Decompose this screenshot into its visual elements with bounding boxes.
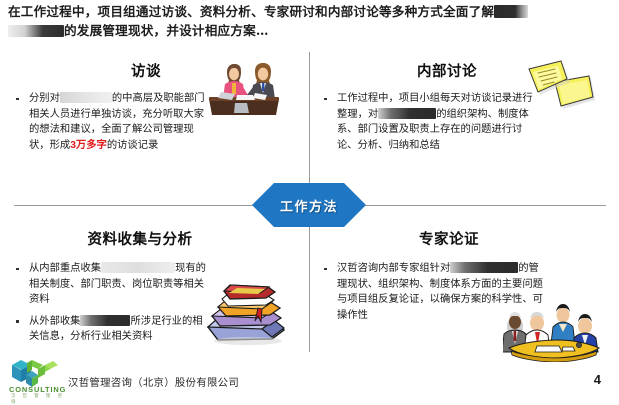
center-badge: 工作方法 <box>252 183 366 227</box>
quadrant-internal-discussion-bullets: 工作过程中，项目小组每天对访谈记录进行整理，对的组织架构、制度体系、部门设置及职… <box>320 91 542 153</box>
redacted-text-block <box>101 262 175 273</box>
quadrant-interview-bullets: 分别对的中高层及职能部门相关人员进行单独访谈，充分听取大家的想法和建议，全面了解… <box>12 91 208 153</box>
header-redaction-1 <box>494 5 528 18</box>
interview-illustration <box>203 59 285 117</box>
header-line-1-text: 在工作过程中，项目组通过访谈、资料分析、专家研讨和内部讨论等多种方式全面了解 <box>8 4 494 19</box>
highlighted-text: 3万多字 <box>70 140 107 151</box>
expert-group-illustration <box>503 300 607 362</box>
sticky-notes-illustration <box>521 58 601 116</box>
bullet-text: 的访谈记录 <box>107 140 158 151</box>
header-line-2-text: 的发展管理现状，并设计相应方案… <box>64 23 269 38</box>
bullet-text: 汉哲咨询内部专家组针对 <box>337 263 450 274</box>
redacted-text-block <box>80 315 130 326</box>
company-logo: CONSULTING 汉 哲 管 理 咨 询 <box>8 357 68 401</box>
bullet-text: 分别对 <box>29 93 60 104</box>
redacted-text-block <box>378 108 436 119</box>
logo-subtext: 汉 哲 管 理 咨 询 <box>11 393 68 405</box>
slide-canvas: 在工作过程中，项目组通过访谈、资料分析、专家研讨和内部讨论等多种方式全面了解 的… <box>0 0 619 405</box>
bullet-text: 从内部重点收集 <box>29 263 101 274</box>
redacted-text-block <box>60 92 112 103</box>
quadrant-expert-review-title: 专家论证 <box>344 228 554 249</box>
quadrant-data-collection-bullets: 从内部重点收集现有的相关制度、部门职责、岗位职责等相关资料从外部收集所涉足行业的… <box>12 261 208 345</box>
books-illustration <box>200 277 292 349</box>
header-line-1: 在工作过程中，项目组通过访谈、资料分析、专家研讨和内部讨论等多种方式全面了解 <box>8 2 612 21</box>
slide-header: 在工作过程中，项目组通过访谈、资料分析、专家研讨和内部讨论等多种方式全面了解 的… <box>8 2 612 40</box>
bullet-item: 分别对的中高层及职能部门相关人员进行单独访谈，充分听取大家的想法和建议，全面了解… <box>12 91 208 153</box>
redacted-text-block <box>450 262 518 273</box>
footer-company-name: 汉哲管理咨询（北京）股份有限公司 <box>68 374 239 389</box>
header-redaction-2 <box>8 25 64 37</box>
page-number: 4 <box>594 372 601 387</box>
bullet-item: 从内部重点收集现有的相关制度、部门职责、岗位职责等相关资料 <box>12 261 208 308</box>
quadrant-data-collection-title: 资料收集与分析 <box>40 228 240 249</box>
bullet-item: 工作过程中，项目小组每天对访谈记录进行整理，对的组织架构、制度体系、部门设置及职… <box>320 91 542 153</box>
header-line-2: 的发展管理现状，并设计相应方案… <box>8 21 612 40</box>
center-badge-label: 工作方法 <box>280 196 338 215</box>
bullet-item: 从外部收集所涉足行业的相关信息，分析行业相关资料 <box>12 314 208 345</box>
bullet-text: 从外部收集 <box>29 316 80 327</box>
